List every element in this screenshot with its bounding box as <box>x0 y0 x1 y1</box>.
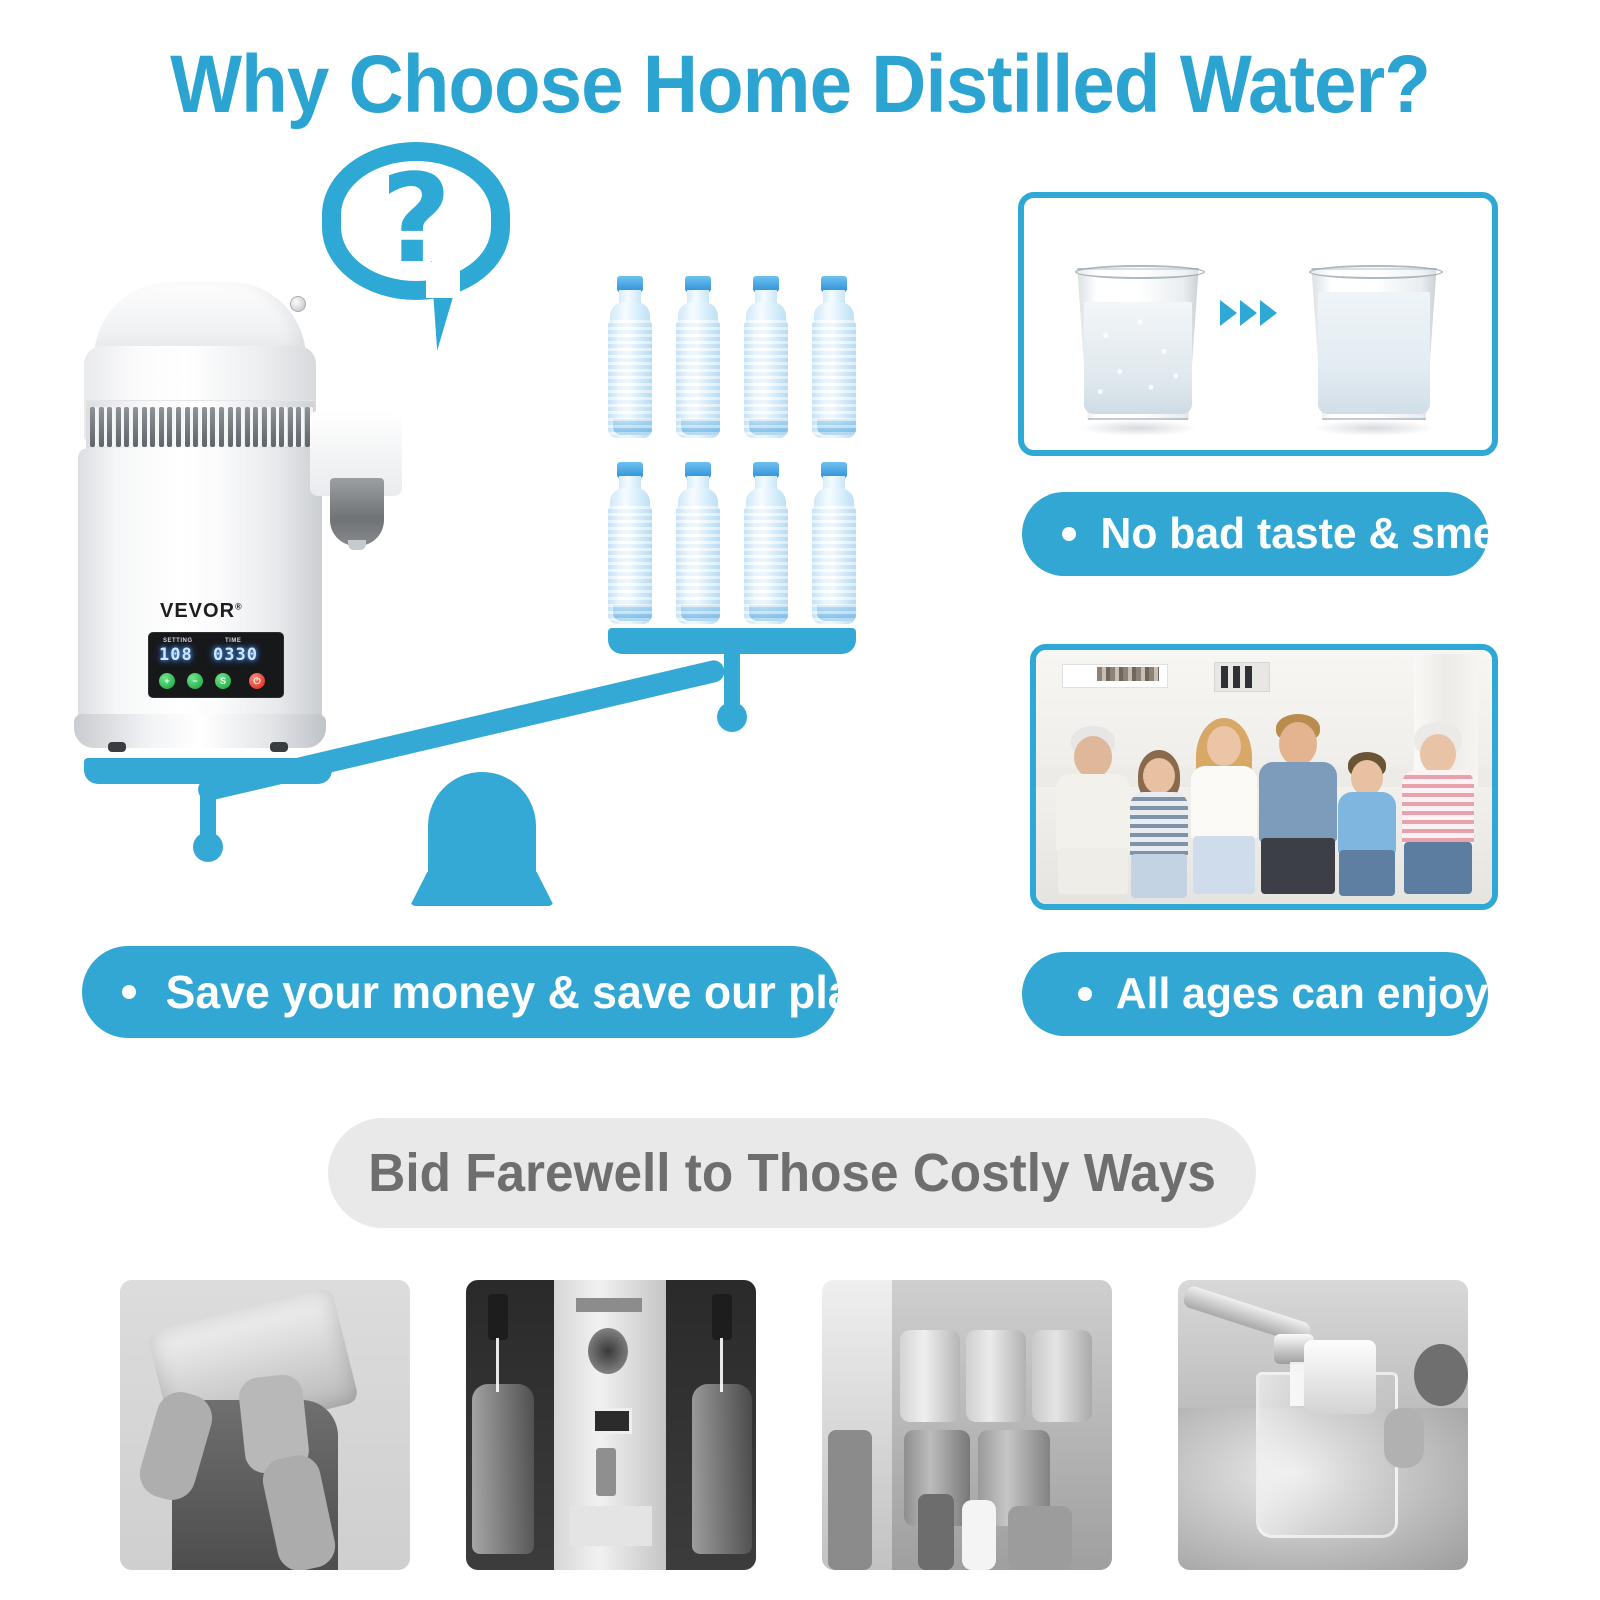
glass-shadow <box>1080 420 1196 436</box>
vent-slot <box>262 407 267 447</box>
seesaw-fulcrum-foot <box>410 872 554 906</box>
bullet-dot-icon <box>1078 987 1092 1001</box>
photo-content <box>1178 1280 1468 1570</box>
person-grandfather <box>1056 726 1130 894</box>
water-bottle <box>672 276 724 440</box>
vent-slot <box>176 407 181 447</box>
vent-slot <box>228 407 233 447</box>
vent-slot <box>133 407 138 447</box>
benefit-label: All ages can enjoy <box>1116 972 1488 1016</box>
water-bottle <box>604 276 656 440</box>
person-mother <box>1188 718 1260 894</box>
distiller-spout-nozzle <box>330 478 384 546</box>
benefit-label: Save your money & save our planet <box>166 969 920 1015</box>
vent-slot <box>90 407 95 447</box>
photo-content <box>120 1280 410 1570</box>
family-photo-scene <box>1036 650 1492 904</box>
page-title: Why Choose Home Distilled Water? <box>56 44 1544 126</box>
seesaw-joint-left <box>193 832 223 862</box>
chevron-right-icon <box>1240 300 1257 326</box>
vent-slot <box>296 407 301 447</box>
vent-slot <box>288 407 293 447</box>
vent-slot <box>236 407 241 447</box>
bottle-body <box>812 320 856 438</box>
bottle-water <box>749 419 788 435</box>
clear-water-glass <box>1306 268 1442 420</box>
glass-rim <box>1075 265 1206 279</box>
infographic-canvas: Why Choose Home Distilled Water? ? VEVOR… <box>0 0 1600 1600</box>
cloudy-water-glass <box>1072 268 1204 420</box>
water-bottle <box>740 276 792 440</box>
benefit-label: No bad taste & smell <box>1100 512 1520 556</box>
person-girl <box>1128 744 1190 894</box>
costly-way-photo-filter-pitcher <box>1178 1280 1468 1570</box>
vent-slot <box>142 407 147 447</box>
vent-slot <box>245 407 250 447</box>
costly-way-photo-stacked-jugs <box>822 1280 1112 1570</box>
bottle-body <box>744 320 788 438</box>
bottle-water <box>681 419 720 435</box>
question-mark-glyph: ? <box>322 144 510 294</box>
benefit-pill-save-money[interactable]: Save your money & save our planet <box>82 946 838 1038</box>
vent-slot <box>107 407 112 447</box>
wall-window <box>1214 662 1270 692</box>
vent-slot <box>167 407 172 447</box>
chevron-right-icon <box>1220 300 1237 326</box>
vent-slot <box>159 407 164 447</box>
books <box>1097 667 1159 681</box>
vent-slot <box>253 407 258 447</box>
bottle-water <box>613 419 652 435</box>
person-father <box>1258 714 1338 894</box>
vent-slot <box>185 407 190 447</box>
water-bottle <box>808 276 860 440</box>
vent-slot <box>219 407 224 447</box>
vent-slot <box>193 407 198 447</box>
banner-label: Bid Farewell to Those Costly Ways <box>368 1142 1216 1204</box>
photo-content <box>822 1280 1112 1570</box>
person-grandmother <box>1400 722 1476 894</box>
costly-ways-banner: Bid Farewell to Those Costly Ways <box>328 1118 1256 1228</box>
cloudy-water <box>1084 302 1192 414</box>
vent-slot <box>271 407 276 447</box>
bottle-water <box>817 419 856 435</box>
costly-way-photo-carrying-jug <box>120 1280 410 1570</box>
transformation-arrow-icon <box>1220 296 1292 330</box>
glass-rim <box>1309 265 1444 279</box>
distiller-vent-grille <box>86 400 314 454</box>
vent-slot <box>210 407 215 447</box>
seesaw-joint-right <box>717 702 747 732</box>
benefit-pill-no-bad-taste[interactable]: No bad taste & smell <box>1022 492 1488 576</box>
distiller-spout-tip <box>348 540 366 550</box>
vent-slot <box>150 407 155 447</box>
vent-slot <box>202 407 207 447</box>
vent-slot <box>279 407 284 447</box>
clear-water <box>1318 292 1430 414</box>
benefit-pill-all-ages[interactable]: All ages can enjoy <box>1022 952 1488 1036</box>
water-quality-comparison-panel <box>1018 192 1498 456</box>
bottle-body <box>676 320 720 438</box>
bottle-body <box>608 320 652 438</box>
costly-way-photo-vending-machine <box>466 1280 756 1570</box>
chevron-right-icon <box>1260 300 1277 326</box>
wall-shelf <box>1062 664 1168 688</box>
bullet-dot-icon <box>1062 527 1076 541</box>
vent-slot <box>116 407 121 447</box>
balance-seesaw <box>80 600 920 900</box>
distiller-lid-knob <box>290 296 306 312</box>
photo-content <box>466 1280 756 1570</box>
vent-slot <box>99 407 104 447</box>
glass-shadow <box>1314 420 1434 436</box>
vent-slot <box>124 407 129 447</box>
plastic-water-bottle-group <box>604 276 886 628</box>
bullet-dot-icon <box>122 985 136 999</box>
person-boy <box>1336 742 1398 894</box>
family-photo <box>1030 644 1498 910</box>
